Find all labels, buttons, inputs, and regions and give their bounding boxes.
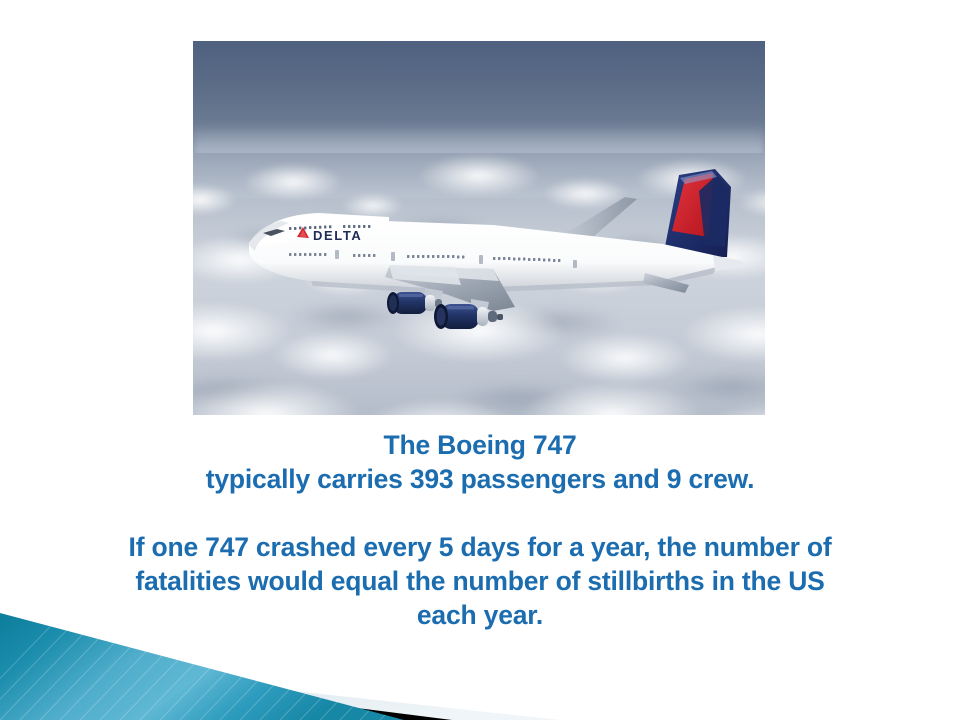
- svg-text:DELTA: DELTA: [313, 228, 362, 243]
- caption-line-5: each year.: [0, 598, 960, 632]
- caption-paragraph-2: If one 747 crashed every 5 days for a ye…: [0, 530, 960, 632]
- caption-line-4: fatalities would equal the number of sti…: [0, 564, 960, 598]
- caption-line-1: The Boeing 747: [0, 428, 960, 462]
- caption-paragraph-1: The Boeing 747 typically carries 393 pas…: [0, 428, 960, 496]
- caption-line-2: typically carries 393 passengers and 9 c…: [0, 462, 960, 496]
- aircraft-group: DELTA: [249, 169, 745, 329]
- caption-paragraph-gap: [0, 496, 960, 530]
- airplane-photo: DELTA: [193, 41, 765, 415]
- photo-stage: DELTA: [193, 41, 765, 415]
- caption-line-3: If one 747 crashed every 5 days for a ye…: [0, 530, 960, 564]
- boeing-747-aircraft-icon: DELTA: [193, 41, 765, 415]
- slide-canvas: DELTA: [0, 0, 960, 720]
- decor-light-band: [0, 659, 560, 720]
- decor-black-band: [0, 663, 452, 720]
- slide-caption: The Boeing 747 typically carries 393 pas…: [0, 428, 960, 632]
